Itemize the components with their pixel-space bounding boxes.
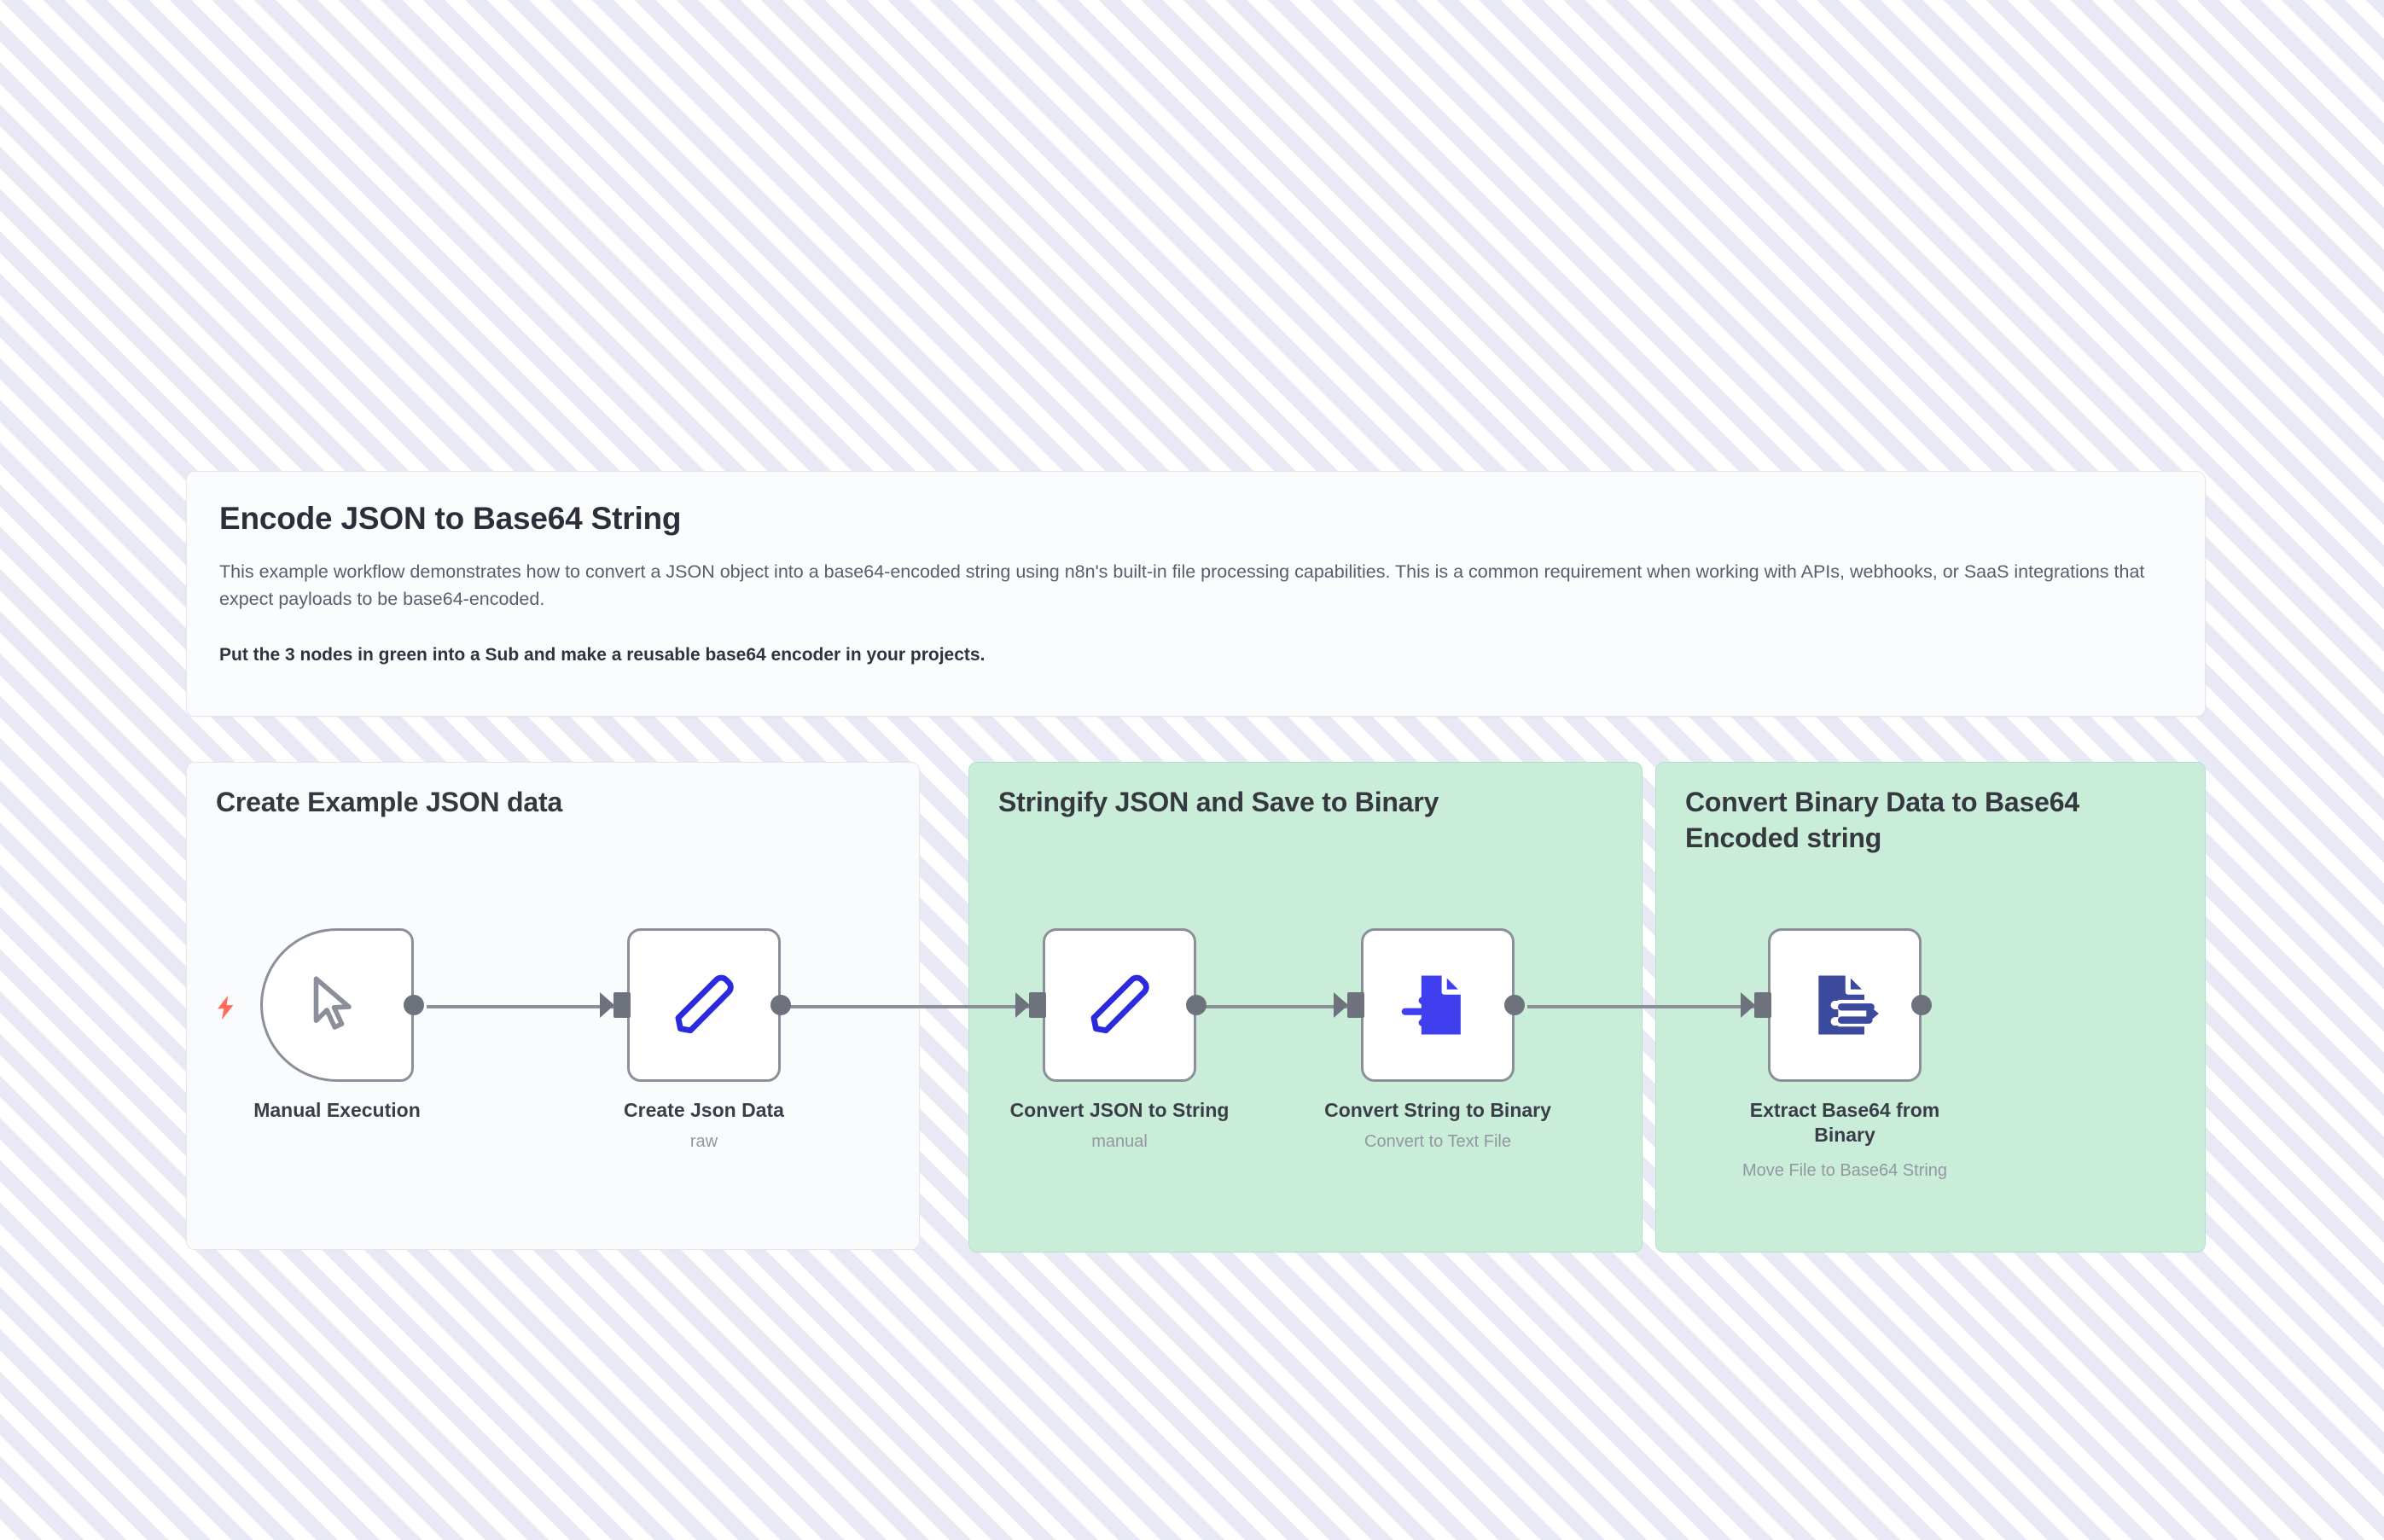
sticky-note-title: Encode JSON to Base64 String	[219, 501, 2172, 537]
sticky-note-bold-note: Put the 3 nodes in green into a Sub and …	[219, 645, 2172, 665]
group-title: Stringify JSON and Save to Binary	[998, 785, 1439, 821]
node-convert-string-to-binary[interactable]: Convert String to Binary Convert to Text…	[1361, 928, 1515, 1082]
file-export-icon	[1805, 966, 1884, 1044]
connector-create-json-data-to-convert-json-to-string	[776, 1005, 1032, 1008]
node-extract-base64-from-binary[interactable]: Extract Base64 from Binary Move File to …	[1768, 928, 1922, 1082]
group-title: Convert Binary Data to Base64 Encoded st…	[1685, 785, 2129, 856]
output-endpoint[interactable]	[1911, 995, 1932, 1015]
node-sublabel: manual	[974, 1132, 1265, 1152]
node-label: Create Json Data	[576, 1098, 832, 1123]
pencil-icon	[1083, 968, 1156, 1042]
output-endpoint[interactable]	[1504, 995, 1525, 1015]
lightning-bolt-icon	[212, 991, 241, 1025]
input-endpoint[interactable]	[1029, 992, 1046, 1018]
connector-manual-execution-to-create-json-data	[427, 1005, 625, 1008]
connector-convert-string-to-binary-to-extract-base64-from-binary	[1527, 1005, 1768, 1008]
node-label: Convert JSON to String	[991, 1098, 1247, 1123]
group-title: Create Example JSON data	[216, 785, 562, 821]
node-label: Convert String to Binary	[1310, 1098, 1566, 1123]
node-sublabel: Move File to Base64 String	[1700, 1161, 1990, 1181]
node-sublabel: raw	[559, 1132, 849, 1152]
pencil-icon	[667, 968, 741, 1042]
cursor-pointer-icon	[301, 969, 373, 1041]
node-create-json-data[interactable]: Create Json Data raw	[627, 928, 781, 1082]
node-manual-execution[interactable]: Manual Execution	[260, 928, 414, 1082]
input-endpoint[interactable]	[1754, 992, 1771, 1018]
node-convert-json-to-string[interactable]: Convert JSON to String manual	[1043, 928, 1196, 1082]
node-sublabel: Convert to Text File	[1293, 1132, 1583, 1152]
output-endpoint[interactable]	[770, 995, 791, 1015]
node-label: Manual Execution	[209, 1098, 465, 1123]
file-import-icon	[1398, 966, 1477, 1044]
output-endpoint[interactable]	[1186, 995, 1207, 1015]
sticky-note[interactable]: Encode JSON to Base64 String This exampl…	[186, 471, 2206, 717]
output-endpoint[interactable]	[404, 995, 424, 1015]
sticky-note-paragraph: This example workflow demonstrates how t…	[219, 559, 2172, 613]
input-endpoint[interactable]	[1347, 992, 1364, 1018]
node-label: Extract Base64 from Binary	[1747, 1098, 1943, 1148]
input-endpoint[interactable]	[613, 992, 631, 1018]
workflow-canvas[interactable]: Encode JSON to Base64 String This exampl…	[0, 0, 2384, 1540]
